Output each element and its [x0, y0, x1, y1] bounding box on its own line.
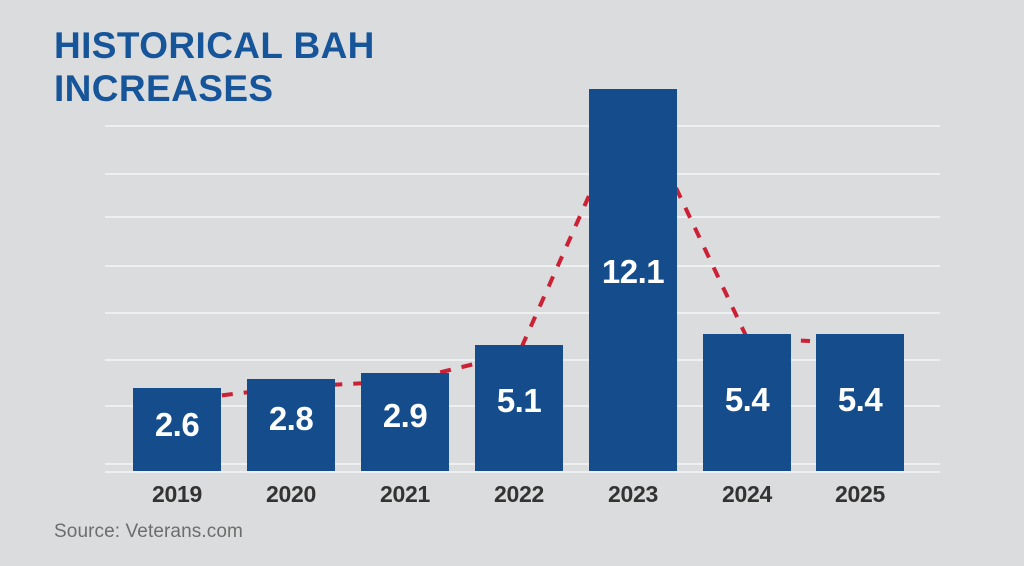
x-tick-2025: 2025	[803, 481, 917, 508]
x-tick-2019: 2019	[120, 481, 234, 508]
bar-value-2025: 5.4	[816, 381, 904, 419]
x-tick-2021: 2021	[348, 481, 462, 508]
bar-value-2023: 12.1	[589, 253, 677, 291]
source-note: Source: Veterans.com	[54, 521, 243, 543]
x-tick-2022: 2022	[462, 481, 576, 508]
bar-value-2024: 5.4	[703, 381, 791, 419]
bah-increases-infographic: HISTORICAL BAH INCREASES PERCENT INCREAS…	[0, 0, 1024, 566]
bar-value-2021: 2.9	[361, 397, 449, 435]
x-tick-2020: 2020	[234, 481, 348, 508]
x-tick-2023: 2023	[576, 481, 690, 508]
x-tick-2024: 2024	[690, 481, 804, 508]
bar-value-2020: 2.8	[247, 400, 335, 438]
bar-value-2019: 2.6	[133, 406, 221, 444]
bar-value-2022: 5.1	[475, 382, 563, 420]
bars-layer: 2.620192.820202.920215.1202212.120235.42…	[0, 0, 1024, 566]
